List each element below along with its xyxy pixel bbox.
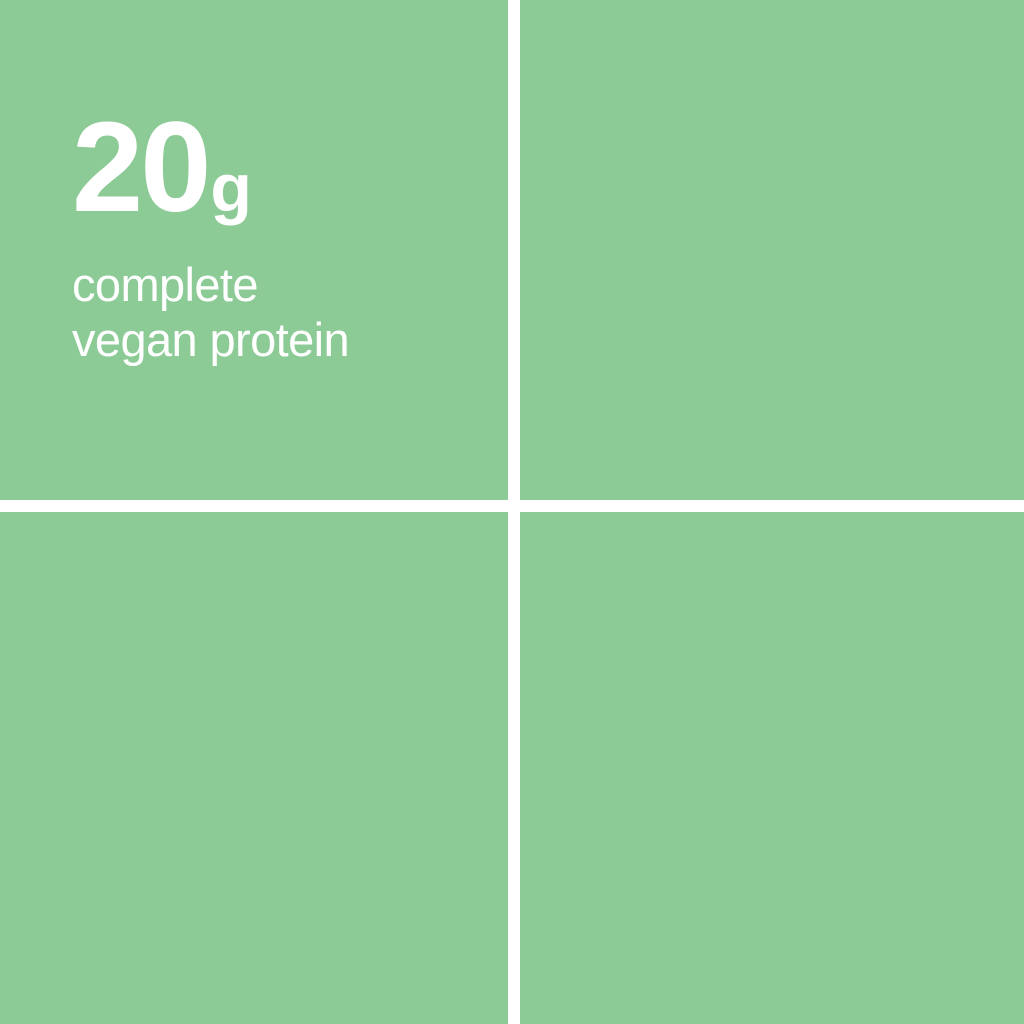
protein-stat-value: 20: [72, 96, 208, 239]
panel-protein: 20g complete vegan protein: [0, 0, 508, 500]
protein-description-line1: complete: [72, 258, 258, 311]
protein-stat-unit: g: [210, 150, 251, 226]
protein-description-line2: vegan protein: [72, 313, 349, 366]
panel-taste: mixes well & tastes great with no bad af…: [0, 512, 508, 1024]
product-benefits-infographic: 20g complete vegan protein: [0, 0, 1024, 1024]
panel-claims: NON-GMO GLUTEN FREE SOY FREE DAIRY FREE …: [520, 512, 1024, 1024]
protein-description: complete vegan protein: [72, 258, 492, 368]
protein-stat: 20g: [72, 104, 251, 232]
panel-prebiotics: prebiotics to support optimal gut health: [520, 0, 1024, 500]
